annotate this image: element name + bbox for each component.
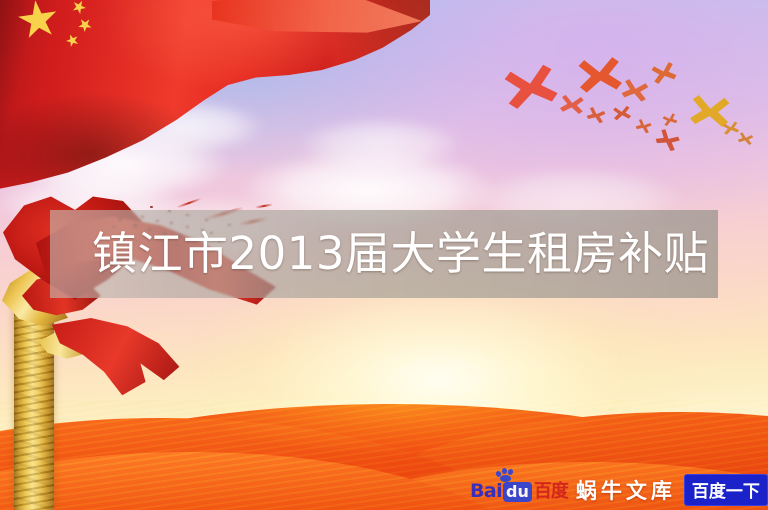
paw-print-icon bbox=[496, 468, 516, 482]
baidu-logo-du: du bbox=[506, 482, 529, 501]
petal-speck bbox=[150, 206, 153, 208]
baidu-logo-du-box: du bbox=[503, 482, 532, 502]
site-name-label: 蜗牛文库 bbox=[576, 475, 676, 505]
baidu-search-button[interactable]: 百度一下 bbox=[684, 474, 768, 506]
bird-icon bbox=[612, 105, 632, 122]
column-carving bbox=[14, 292, 54, 510]
baidu-logo-bai: Bai bbox=[470, 480, 502, 502]
poster-canvas: 镇江市2013届大学生租房补贴 Bai du 百度 蜗牛文库 百度一下 bbox=[0, 0, 768, 510]
page-title: 镇江市2013届大学生租房补贴 bbox=[92, 222, 702, 286]
bird-icon bbox=[576, 55, 624, 97]
flag-field bbox=[0, 0, 430, 220]
baidu-logo[interactable]: Bai du 百度 bbox=[470, 477, 568, 503]
baidu-logo-chinese: 百度 bbox=[534, 477, 568, 503]
golden-column bbox=[14, 292, 54, 510]
watermark: Bai du 百度 蜗牛文库 百度一下 bbox=[470, 476, 768, 504]
china-flag bbox=[0, 0, 430, 220]
